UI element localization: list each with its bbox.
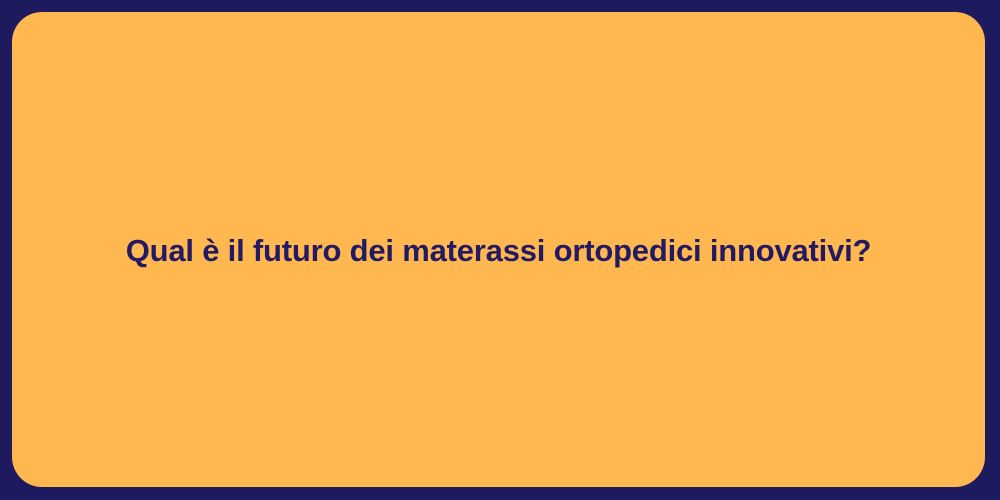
banner-frame: Qual è il futuro dei materassi ortopedic… <box>0 0 1000 500</box>
banner-card: Qual è il futuro dei materassi ortopedic… <box>12 12 985 487</box>
page-title: Qual è il futuro dei materassi ortopedic… <box>126 232 872 269</box>
